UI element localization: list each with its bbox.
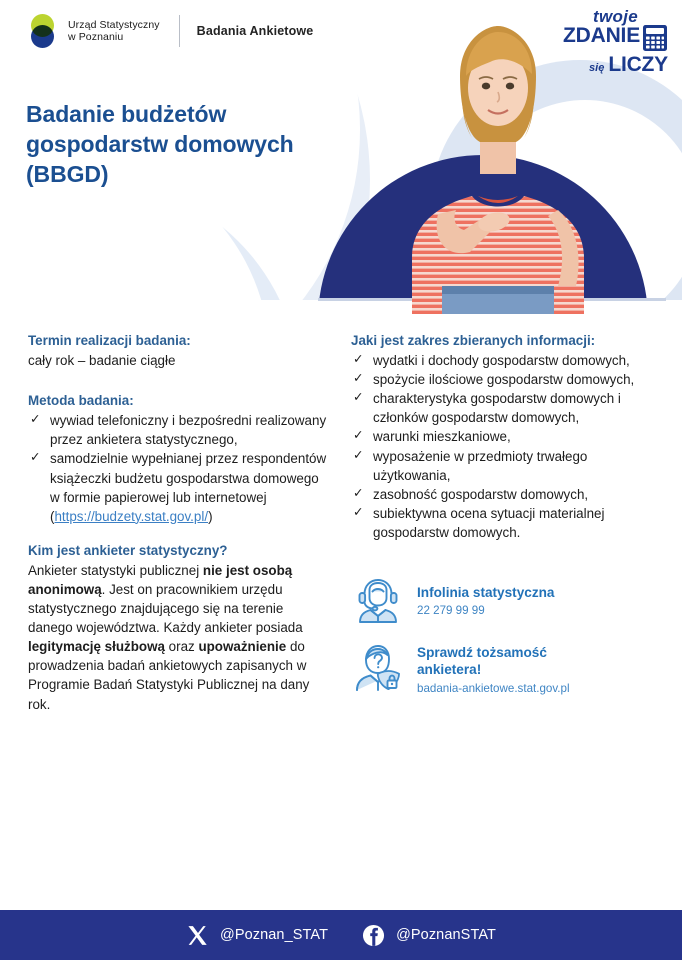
- verify-identity-title-line2: ankietera!: [417, 661, 570, 678]
- list-item: samodzielnie wypełnianej przez responden…: [28, 449, 327, 525]
- logo-circle-navy: [31, 25, 54, 48]
- social-facebook-handle: @PoznanSTAT: [396, 927, 496, 943]
- header-divider: [179, 15, 180, 47]
- verify-identity-title-line1: Sprawdź tożsamość: [417, 644, 570, 661]
- contact-verify-identity: Sprawdź tożsamość ankietera! badania-ank…: [351, 640, 654, 696]
- header-logo-row: Urząd Statystyczny w Poznaniu Badania An…: [26, 14, 313, 48]
- scope-item-text: zasobność gospodarstw domowych,: [373, 487, 588, 502]
- verify-identity-title: Sprawdź tożsamość ankietera!: [417, 644, 570, 679]
- brand-line-twoje: twoje: [563, 8, 638, 25]
- scope-item-text: charakterystyka gospodarstw domowych i c…: [373, 391, 621, 425]
- brand-line-zdanie: ZDANIE: [563, 26, 640, 46]
- list-item: warunki mieszkaniowe,: [351, 427, 654, 446]
- body-text: Ankieter statystyki publicznej: [28, 563, 203, 578]
- scope-heading: Jaki jest zakres zbieranych informacji:: [351, 332, 654, 350]
- hotline-phone: 22 279 99 99: [417, 603, 554, 618]
- left-column: Termin realizacji badania: cały rok – ba…: [18, 332, 341, 910]
- social-x-handle: @Poznan_STAT: [220, 927, 328, 943]
- right-column: Jaki jest zakres zbieranych informacji: …: [341, 332, 664, 910]
- emphasis-text: upoważnienie: [198, 639, 286, 654]
- method-item-text: wywiad telefoniczny i bezpośredni realiz…: [50, 413, 326, 447]
- budzety-survey-link[interactable]: https://budzety.stat.gov.pl/: [54, 509, 208, 524]
- contact-hotline: Infolinia statystyczna 22 279 99 99: [351, 572, 654, 626]
- term-value: cały rok – badanie ciągłe: [28, 351, 327, 370]
- list-item: wyposażenie w przedmioty trwałego użytko…: [351, 447, 654, 485]
- hotline-title: Infolinia statystyczna: [417, 584, 554, 601]
- office-name-line2: w Poznaniu: [68, 31, 160, 43]
- method-heading: Metoda badania:: [28, 392, 327, 410]
- calculator-icon: [642, 24, 668, 52]
- x-twitter-icon: [186, 924, 209, 947]
- page-title: Badanie budżetów gospodarstw domowych (B…: [26, 100, 294, 190]
- interviewer-heading: Kim jest ankieter statystyczny?: [28, 542, 327, 560]
- page-title-line2: gospodarstw domowych: [26, 130, 294, 160]
- urzad-statystyczny-logo: [26, 14, 60, 48]
- paren-close: ): [208, 509, 212, 524]
- method-item-text: samodzielnie wypełnianej przez responden…: [50, 451, 326, 504]
- social-footer: @Poznan_STAT @PoznanSTAT: [0, 910, 682, 960]
- content-columns: Termin realizacji badania: cały rok – ba…: [0, 332, 682, 910]
- body-text: oraz: [165, 639, 199, 654]
- facebook-icon: [362, 924, 385, 947]
- page-title-line3: (BBGD): [26, 160, 294, 190]
- list-item: subiektywna ocena sytuacji materialnej g…: [351, 504, 654, 542]
- scope-item-text: wyposażenie w przedmioty trwałego użytko…: [373, 449, 587, 483]
- list-item: charakterystyka gospodarstw domowych i c…: [351, 389, 654, 427]
- brand-line-liczy: LICZY: [608, 53, 668, 77]
- page-title-line1: Badanie budżetów: [26, 100, 294, 130]
- scope-item-text: subiektywna ocena sytuacji materialnej g…: [373, 506, 604, 540]
- contact-blocks: Infolinia statystyczna 22 279 99 99: [351, 572, 654, 696]
- twoje-zdanie-sie-liczy-logo: twoje ZDANIE: [563, 8, 668, 77]
- list-item: spożycie ilościowe gospodarstw domowych,: [351, 370, 654, 389]
- scope-item-text: wydatki i dochody gospodarstw domowych,: [373, 353, 630, 368]
- office-name-line1: Urząd Statystyczny: [68, 19, 160, 31]
- emphasis-text: legitymację służbową: [28, 639, 165, 654]
- hero-banner: Urząd Statystyczny w Poznaniu Badania An…: [0, 0, 682, 330]
- scope-list: wydatki i dochody gospodarstw domowych, …: [351, 351, 654, 542]
- office-name: Urząd Statystyczny w Poznaniu: [68, 19, 160, 44]
- method-list: wywiad telefoniczny i bezpośredni realiz…: [28, 411, 327, 526]
- list-item: wydatki i dochody gospodarstw domowych,: [351, 351, 654, 370]
- verify-identity-url: badania-ankietowe.stat.gov.pl: [417, 681, 570, 696]
- headset-operator-icon: [351, 572, 405, 626]
- social-facebook[interactable]: @PoznanSTAT: [362, 924, 496, 947]
- brand-line-sie: się: [589, 62, 604, 74]
- list-item: wywiad telefoniczny i bezpośredni realiz…: [28, 411, 327, 449]
- social-x[interactable]: @Poznan_STAT: [186, 924, 328, 947]
- identity-check-shield-icon: [351, 640, 405, 694]
- scope-item-text: warunki mieszkaniowe,: [373, 429, 511, 444]
- list-item: zasobność gospodarstw domowych,: [351, 485, 654, 504]
- scope-item-text: spożycie ilościowe gospodarstw domowych,: [373, 372, 634, 387]
- term-heading: Termin realizacji badania:: [28, 332, 327, 350]
- survey-program-label: Badania Ankietowe: [197, 24, 314, 38]
- interviewer-paragraph: Ankieter statystyki publicznej nie jest …: [28, 561, 327, 714]
